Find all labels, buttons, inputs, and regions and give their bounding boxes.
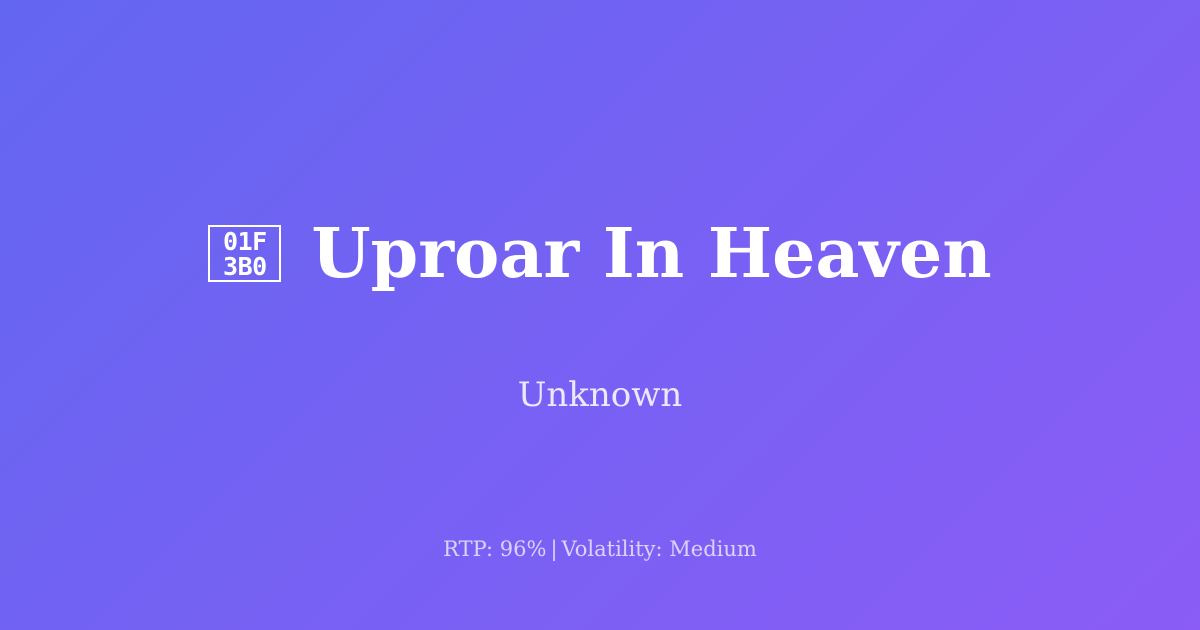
rtp-stat: RTP: 96% (443, 537, 546, 561)
title-row: 01F 3B0 Uproar In Heaven (208, 172, 991, 335)
provider-name: Unknown (518, 375, 683, 416)
volatility-stat: Volatility: Medium (562, 537, 757, 561)
game-stats: RTP: 96%|Volatility: Medium (0, 537, 1200, 562)
stat-separator: | (546, 537, 561, 561)
slot-machine-icon: 01F 3B0 (208, 225, 281, 282)
game-preview-card: 01F 3B0 Uproar In Heaven Unknown RTP: 96… (0, 0, 1200, 630)
game-title: Uproar In Heaven (311, 218, 991, 290)
slot-machine-icon-codepoint-low: 3B0 (223, 254, 267, 279)
slot-machine-icon-codepoint-high: 01F (223, 229, 267, 254)
